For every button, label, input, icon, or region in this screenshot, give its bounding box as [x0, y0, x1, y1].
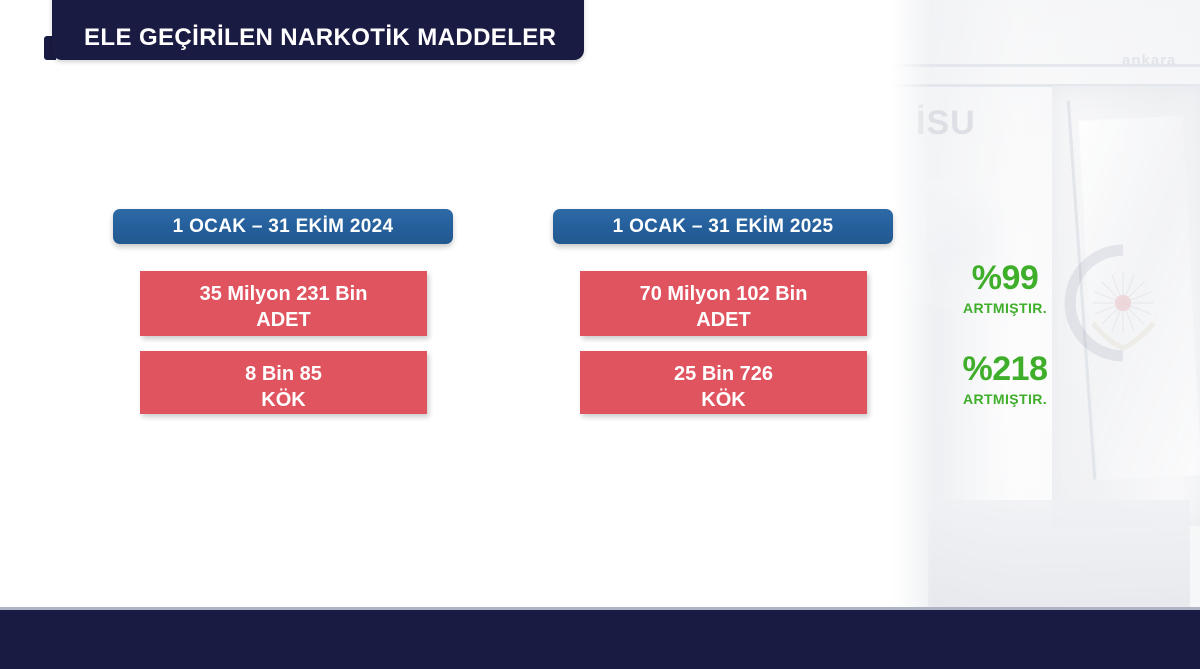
title-bar: ELE GEÇİRİLEN NARKOTİK MADDELER: [52, 0, 584, 60]
delta-badge-adet: %99 ARTMIŞTIR.: [930, 261, 1080, 316]
background-podium: [928, 500, 1190, 612]
delta-percent: %99: [930, 261, 1080, 295]
stat-box-2024-kok: 8 Bin 85 KÖK: [140, 351, 427, 414]
slide-canvas: İSU ankara ELE GEÇİRİLEN NARKOTİK MADDEL…: [0, 0, 1200, 669]
background-left-fade: [892, 0, 932, 612]
stat-value: 35 Milyon 231 Bin: [140, 281, 427, 307]
period-column-2024: 1 OCAK – 31 EKİM 2024 35 Milyon 231 Bin …: [113, 209, 453, 414]
police-emblem-icon: [1062, 242, 1184, 364]
period-column-2025: 1 OCAK – 31 EKİM 2025 70 Milyon 102 Bin …: [553, 209, 893, 414]
stat-box-2025-adet: 70 Milyon 102 Bin ADET: [580, 271, 867, 336]
period-header-2025: 1 OCAK – 31 EKİM 2025: [553, 209, 893, 244]
stat-unit: KÖK: [580, 387, 867, 413]
period-header-2024: 1 OCAK – 31 EKİM 2024: [113, 209, 453, 244]
stat-unit: ADET: [580, 307, 867, 333]
delta-badge-kok: %218 ARTMIŞTIR.: [930, 352, 1080, 407]
stat-box-2025-kok: 25 Bin 726 KÖK: [580, 351, 867, 414]
page-title: ELE GEÇİRİLEN NARKOTİK MADDELER: [84, 26, 556, 50]
footer-bar: T.C. İSTANBUL VALİLİĞİ: [0, 610, 1200, 669]
stat-unit: ADET: [140, 307, 427, 333]
delta-label: ARTMIŞTIR.: [930, 300, 1080, 316]
stat-unit: KÖK: [140, 387, 427, 413]
stat-value: 8 Bin 85: [140, 361, 427, 387]
stat-value: 70 Milyon 102 Bin: [580, 281, 867, 307]
delta-percent: %218: [930, 352, 1080, 386]
stat-value: 25 Bin 726: [580, 361, 867, 387]
background-ghost-text-2: ankara: [1122, 52, 1176, 69]
stat-box-2024-adet: 35 Milyon 231 Bin ADET: [140, 271, 427, 336]
delta-label: ARTMIŞTIR.: [930, 391, 1080, 407]
